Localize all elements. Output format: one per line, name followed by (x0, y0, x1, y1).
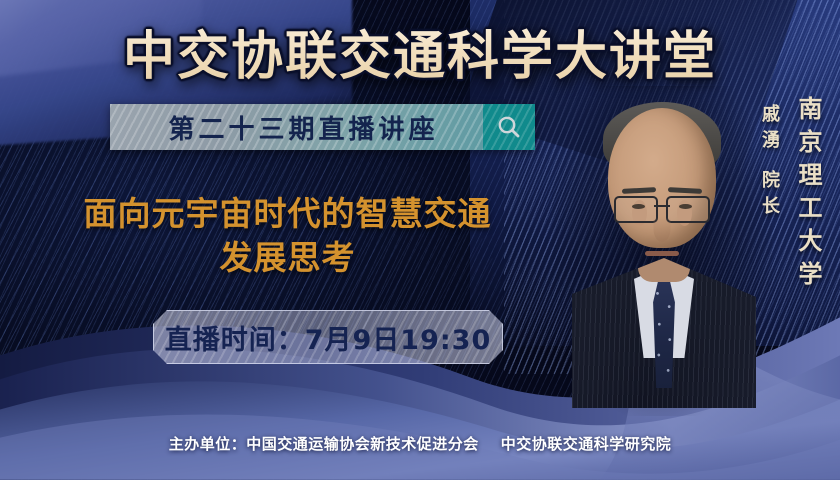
episode-label: 第二十三期直播讲座 (168, 109, 438, 146)
portrait-brow-right (668, 187, 702, 194)
episode-label-wrap: 第二十三期直播讲座 (110, 104, 483, 150)
portrait-mouth (645, 251, 679, 256)
search-icon[interactable] (483, 104, 535, 150)
footer-organizer-1: 中国交通运输协会新技术促进分会 (246, 435, 479, 453)
speaker-organization: 南京理工大学 (791, 96, 826, 294)
portrait-brow-left (622, 187, 656, 194)
portrait-head (608, 108, 716, 248)
livestream-time-badge: 直播时间：7月9日19:30 (153, 310, 503, 364)
main-title: 中交协联交通科学大讲堂 (0, 14, 840, 89)
portrait-lens-right (666, 196, 710, 223)
portrait-nose (654, 216, 671, 242)
speaker-portrait (566, 78, 758, 408)
footer-organizer-label: 主办单位： (169, 435, 247, 453)
lecture-title: 面向元宇宙时代的智慧交通 发展思考 (40, 192, 535, 279)
speaker-name-title: 戚湧 院长 (756, 104, 782, 222)
footer-organizers: 主办单位：中国交通运输协会新技术促进分会中交协联交通科学研究院 (0, 433, 840, 454)
livestream-time-text: 直播时间：7月9日19:30 (165, 318, 492, 357)
lecture-title-line-2: 发展思考 (40, 236, 535, 280)
livestream-poster: 中交协联交通科学大讲堂 第二十三期直播讲座 面向元宇宙时代的智慧交通 发展思考 … (0, 0, 840, 480)
portrait-lens-left (614, 196, 658, 223)
lecture-title-line-1: 面向元宇宙时代的智慧交通 (40, 192, 535, 236)
portrait-glasses-bridge (654, 205, 670, 207)
footer-organizer-2: 中交协联交通科学研究院 (501, 435, 672, 453)
episode-bar: 第二十三期直播讲座 (110, 104, 535, 150)
